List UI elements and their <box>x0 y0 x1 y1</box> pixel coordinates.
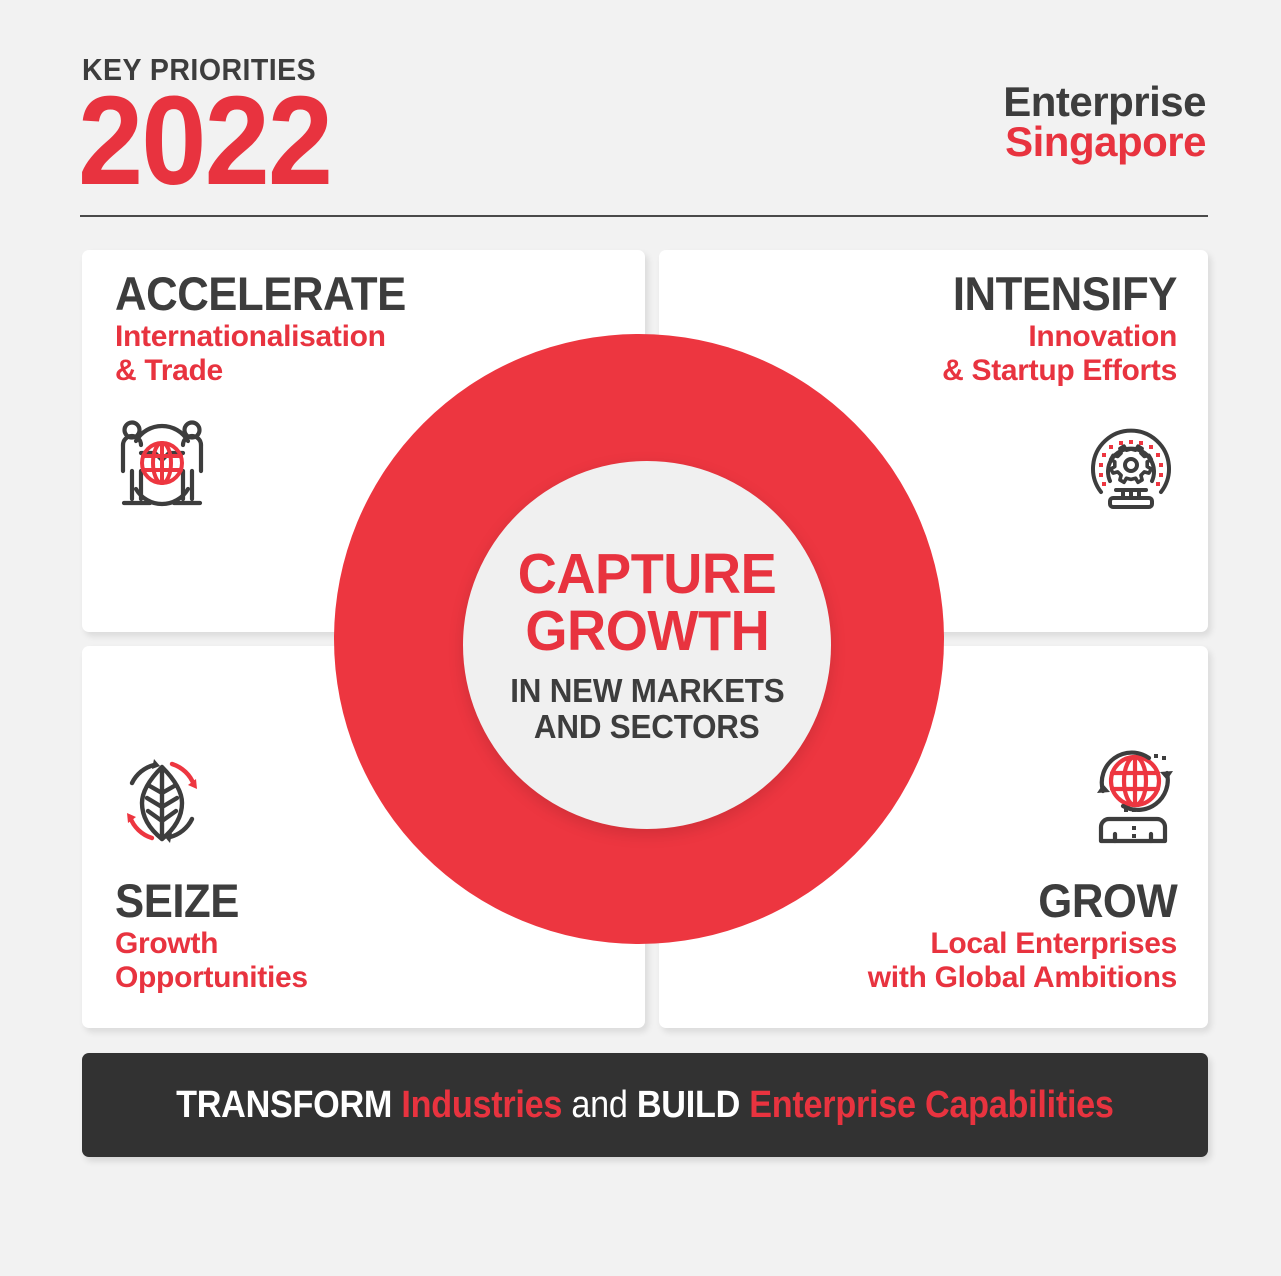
banner-word-capabilities: Enterprise Capabilities <box>749 1084 1113 1126</box>
banner-word-build: BUILD <box>637 1084 740 1126</box>
center-headline-line2: GROWTH <box>525 603 769 660</box>
quadrant-subtitle-line2: with Global Ambitions <box>868 961 1177 995</box>
center-headline-line1: CAPTURE <box>518 546 776 603</box>
enterprise-singapore-logo: Enterprise Singapore <box>1003 82 1206 162</box>
quadrant-subtitle-line2: Opportunities <box>115 961 308 995</box>
quadrant-subtitle-line1: Innovation <box>936 320 1177 354</box>
banner-word-industries: Industries <box>401 1084 562 1126</box>
quadrant-text-seize: SEIZE Growth Opportunities <box>115 877 308 994</box>
quadrant-subtitle-accelerate: Internationalisation & Trade <box>115 320 428 387</box>
quadrant-text-grow: GROW Local Enterprises with Global Ambit… <box>868 877 1177 994</box>
quadrant-text-accelerate: ACCELERATE Internationalisation & Trade <box>115 270 428 387</box>
logo-line-enterprise: Enterprise <box>1003 82 1206 122</box>
quadrant-text-intensify: INTENSIFY Innovation & Startup Efforts <box>936 270 1177 387</box>
quadrant-title-grow: GROW <box>889 877 1177 924</box>
lightbulb-gear-icon <box>1079 418 1183 522</box>
banner-word-and: and <box>571 1084 627 1126</box>
logo-line-singapore: Singapore <box>1003 122 1206 162</box>
quadrant-subtitle-line1: Growth <box>115 927 308 961</box>
center-subline-1: IN NEW MARKETS <box>510 673 784 708</box>
header-divider <box>80 215 1208 217</box>
leaf-cycle-icon <box>110 749 214 853</box>
quadrant-title-accelerate: ACCELERATE <box>115 270 406 317</box>
quadrant-subtitle-line2: & Startup Efforts <box>936 354 1177 388</box>
handshake-globe-icon <box>110 413 214 517</box>
banner-text: TRANSFORM Industries and BUILD Enterpris… <box>176 1086 1114 1124</box>
quadrant-subtitle-intensify: Innovation & Startup Efforts <box>936 320 1177 387</box>
center-subline-2: AND SECTORS <box>534 709 760 744</box>
page-title: 2022 <box>78 78 331 204</box>
banner-word-transform: TRANSFORM <box>176 1084 392 1126</box>
center-disc: CAPTURE GROWTH IN NEW MARKETS AND SECTOR… <box>463 461 831 829</box>
quadrant-title-seize: SEIZE <box>115 877 294 924</box>
quadrant-subtitle-seize: Growth Opportunities <box>115 927 308 994</box>
quadrant-subtitle-line2: & Trade <box>115 354 428 388</box>
infographic-canvas: KEY PRIORITIES 2022 Enterprise Singapore… <box>0 0 1281 1276</box>
quadrant-subtitle-line1: Internationalisation <box>115 320 428 354</box>
quadrant-subtitle-grow: Local Enterprises with Global Ambitions <box>868 927 1177 994</box>
quadrant-title-intensify: INTENSIFY <box>953 270 1177 317</box>
globe-cycle-building-icon <box>1079 746 1183 850</box>
bottom-banner[interactable]: TRANSFORM Industries and BUILD Enterpris… <box>82 1053 1208 1157</box>
quadrant-subtitle-line1: Local Enterprises <box>868 927 1177 961</box>
